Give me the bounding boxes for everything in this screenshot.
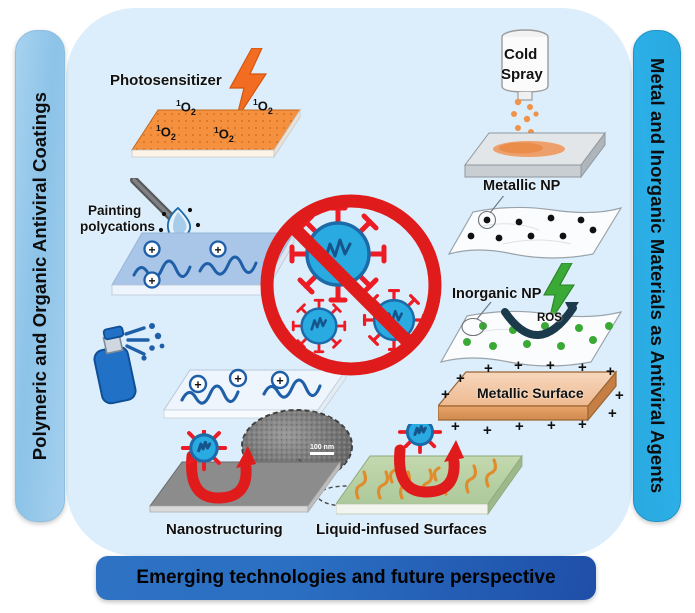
cold-spray-nozzle-icon (494, 28, 556, 102)
bottom-banner-label: Emerging technologies and future perspec… (136, 567, 555, 589)
photosensitizer-label: Photosensitizer (110, 72, 222, 89)
svg-text:+: + (148, 274, 155, 288)
virus-prohibition-sign (252, 186, 450, 384)
left-category-banner[interactable]: Polymeric and Organic Antiviral Coatings (15, 30, 65, 522)
metallic-surface-label: Metallic Surface (477, 385, 584, 401)
metallic-np-label: Metallic NP (483, 178, 560, 194)
inorganic-np-sheet (433, 296, 629, 376)
cold-spray-label-line2: Spray (501, 66, 543, 83)
charge-plus-3: + (546, 358, 555, 373)
charge-plus-7: + (441, 387, 450, 402)
svg-text:+: + (214, 243, 221, 257)
nanostructuring-label: Nanostructuring (166, 521, 283, 538)
ros-label: ROS (537, 312, 562, 324)
bottom-banner[interactable]: Emerging technologies and future perspec… (96, 556, 596, 600)
charge-plus-5: + (606, 364, 615, 379)
charge-plus-2: + (514, 358, 523, 373)
charge-plus-14: + (578, 417, 587, 432)
spray-can-icon (92, 322, 170, 406)
charge-plus-13: + (547, 418, 556, 433)
charge-plus-12: + (515, 419, 524, 434)
metallic-np-sheet (443, 196, 629, 270)
charge-plus-9: + (608, 406, 617, 421)
graphical-abstract: Polymeric and Organic Antiviral Coatings… (0, 0, 695, 613)
singlet-oxygen-label-4: 1O2 (214, 125, 234, 144)
singlet-oxygen-label-3: 1O2 (156, 123, 176, 142)
charge-plus-1: + (484, 361, 493, 376)
svg-text:+: + (194, 378, 201, 392)
singlet-oxygen-label-2: 1O2 (253, 97, 273, 116)
sem-scale-bar-label: 100 nm (310, 444, 334, 451)
virus-bounce-arrow-liquid-infused (386, 424, 480, 510)
right-banner-label: Metal and Inorganic Materials as Antivir… (646, 58, 668, 493)
svg-text:+: + (234, 372, 241, 386)
liquid-infused-surfaces-label: Liquid-infused Surfaces (316, 521, 487, 538)
svg-text:+: + (148, 243, 155, 257)
singlet-oxygen-label-1: 1O2 (176, 98, 196, 117)
virus-bounce-arrow-nanostructuring (178, 430, 272, 516)
right-category-banner[interactable]: Metal and Inorganic Materials as Antivir… (633, 30, 681, 522)
left-banner-label: Polymeric and Organic Antiviral Coatings (29, 92, 51, 460)
charge-plus-4: + (578, 360, 587, 375)
charge-plus-8: + (615, 388, 624, 403)
charge-plus-6: + (456, 371, 465, 386)
cold-spray-label-line1: Cold (504, 46, 537, 63)
charge-plus-11: + (483, 423, 492, 438)
